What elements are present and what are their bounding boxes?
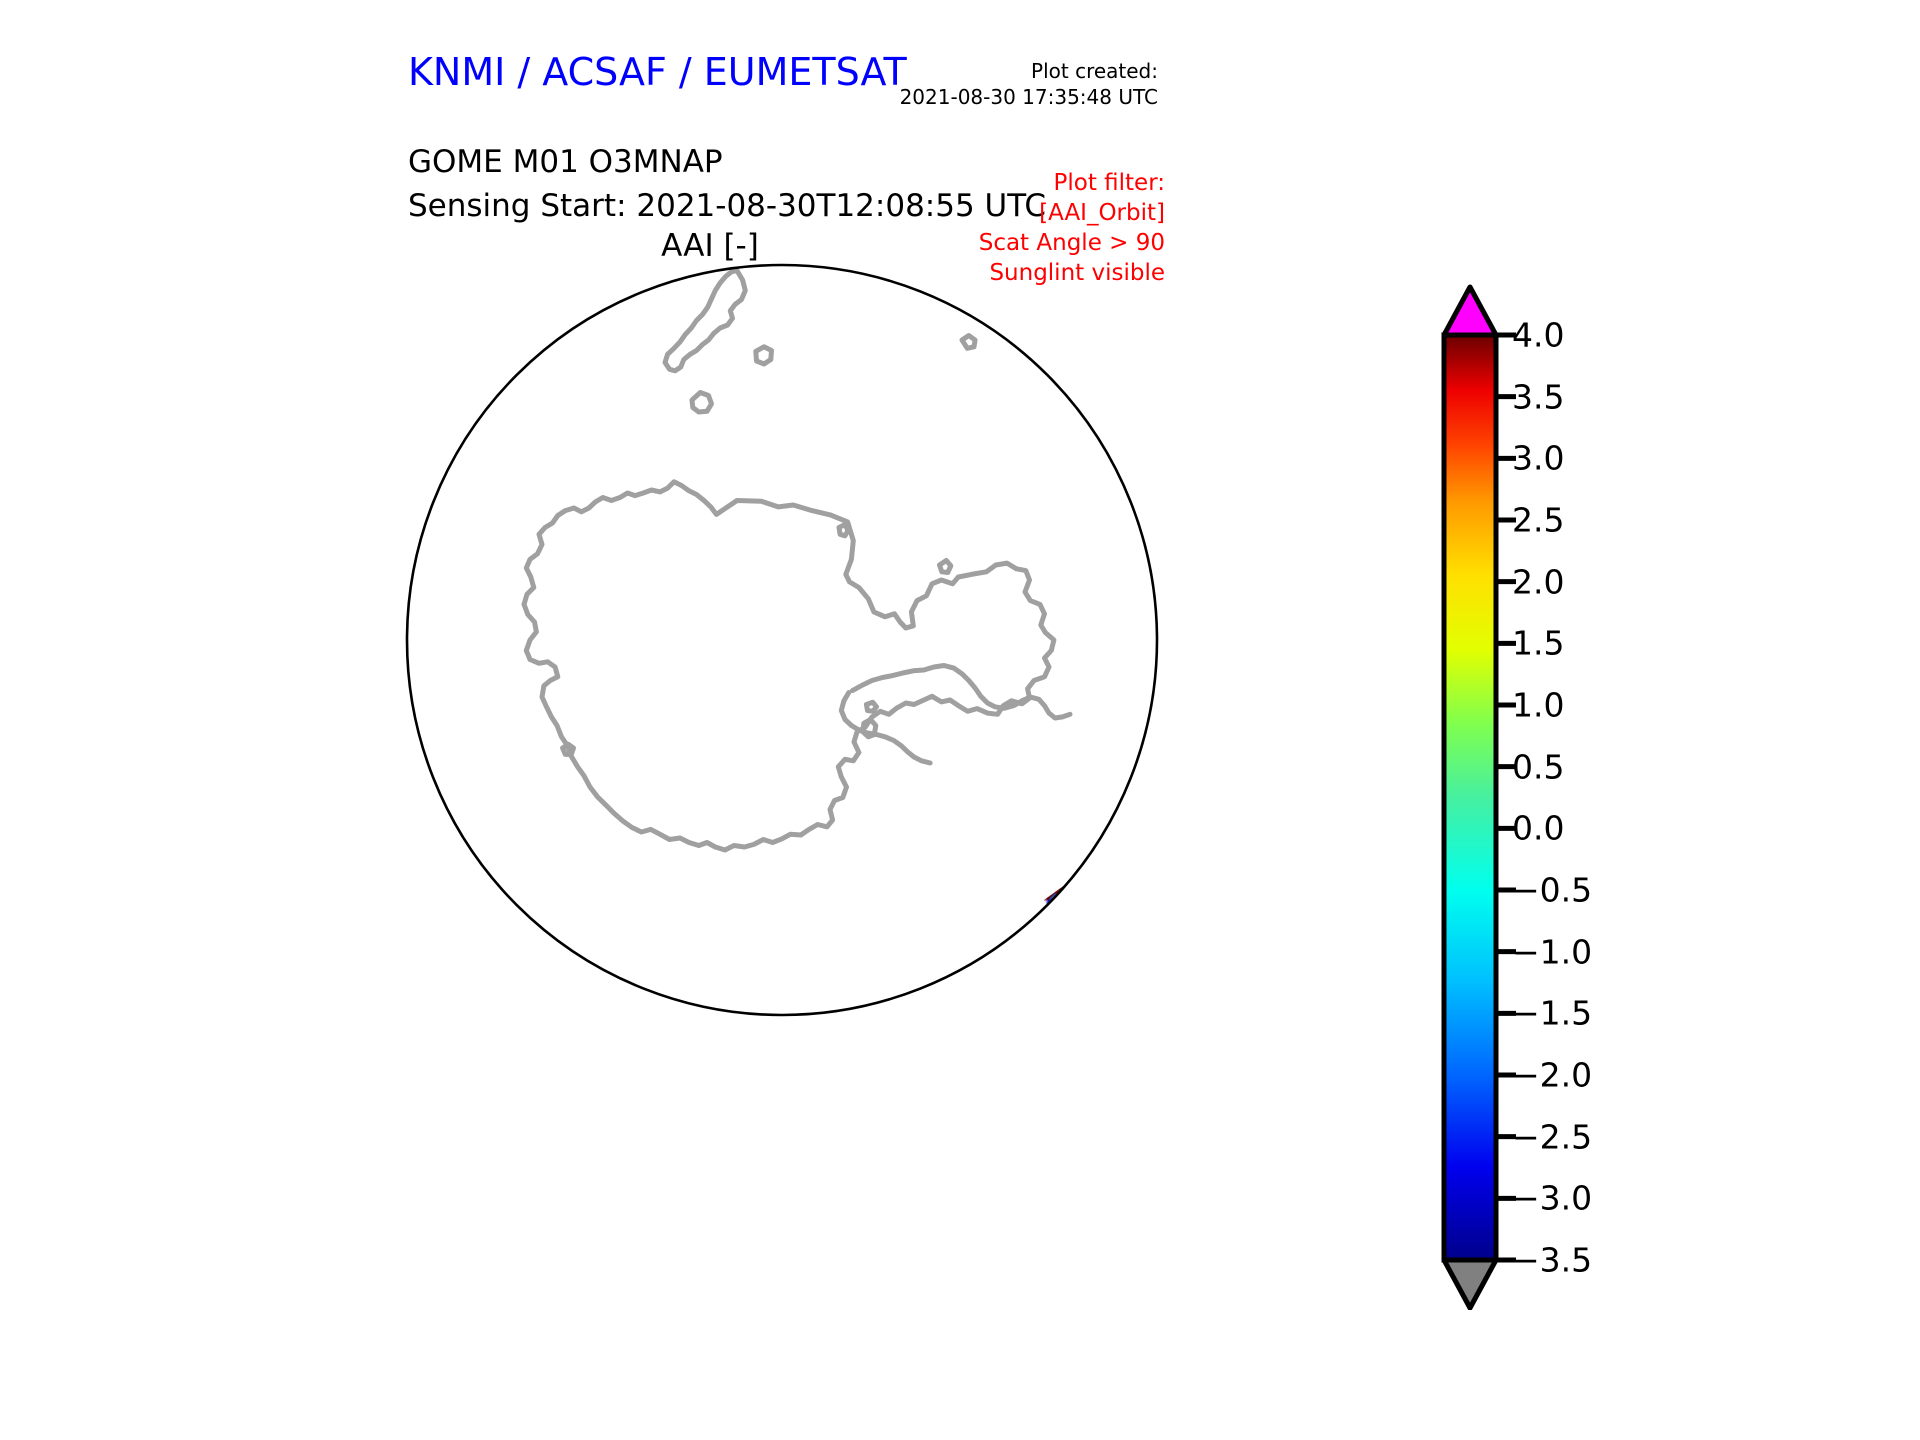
colorbar-tick-label: −2.0 xyxy=(1512,1056,1592,1095)
colorbar: 4.03.53.02.52.01.51.00.50.0−0.5−1.0−1.5−… xyxy=(1432,280,1712,1310)
island-1 xyxy=(692,393,712,413)
island-7 xyxy=(940,561,951,573)
colorbar-gradient-bar xyxy=(1444,335,1496,1260)
island-5 xyxy=(863,720,876,737)
colorbar-tick-label: −3.0 xyxy=(1512,1179,1592,1218)
colorbar-tick-label: 1.0 xyxy=(1512,686,1564,725)
coast-fragment-1 xyxy=(962,336,975,349)
antarctica-mainland xyxy=(524,482,1054,850)
colorbar-tick-label: 3.0 xyxy=(1512,439,1564,478)
coastline-layer xyxy=(524,271,1070,850)
colorbar-tick-label: −1.0 xyxy=(1512,932,1592,971)
colorbar-tick-label: 0.5 xyxy=(1512,747,1564,786)
plot-page: KNMI / ACSAF / EUMETSAT Plot created: 20… xyxy=(0,0,1920,1440)
globe-limb-circle xyxy=(407,265,1157,1015)
colorbar-tick-label: 4.0 xyxy=(1512,316,1564,355)
colorbar-tick-label: −3.5 xyxy=(1512,1241,1592,1280)
island-2 xyxy=(756,347,772,364)
new-zealand-south-island xyxy=(665,271,745,371)
colorbar-tick-label: 3.5 xyxy=(1512,377,1564,416)
island-4 xyxy=(866,702,876,711)
island-6 xyxy=(839,525,848,536)
colorbar-tick-label: −0.5 xyxy=(1512,871,1592,910)
colorbar-tick-label: 2.5 xyxy=(1512,501,1564,540)
colorbar-over-arrow xyxy=(1444,287,1496,335)
colorbar-tick-label: 1.5 xyxy=(1512,624,1564,663)
colorbar-under-arrow xyxy=(1444,1260,1496,1308)
colorbar-tick-label: 2.0 xyxy=(1512,562,1564,601)
colorbar-tick-label: −2.5 xyxy=(1512,1117,1592,1156)
colorbar-tick-label: −1.5 xyxy=(1512,994,1592,1033)
colorbar-tick-label: 0.0 xyxy=(1512,809,1564,848)
